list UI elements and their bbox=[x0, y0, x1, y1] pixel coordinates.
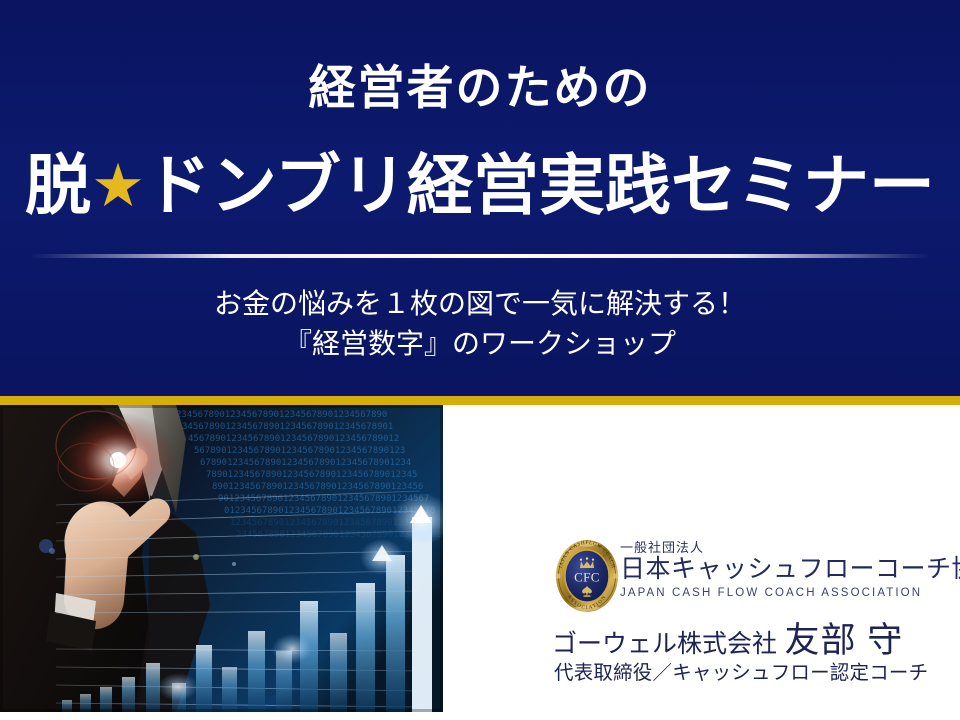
subtitle-line-2: 『経営数字』のワークショップ bbox=[0, 324, 960, 364]
header-banner: 経営者のための 脱★ドンブリ経営実践セミナー お金の悩みを１枚の図で一気に解決す… bbox=[0, 0, 960, 396]
gold-separator-band bbox=[0, 396, 960, 405]
association-kicker: 一般社団法人 bbox=[620, 541, 952, 555]
cfc-seal-icon: JAPAN CASHFLOW COACH ASSOCIATION CFC bbox=[552, 539, 622, 613]
presenter-name: 友部 守 bbox=[785, 621, 904, 660]
association-name-jp: 日本キャッシュフローコーチ協会 bbox=[620, 556, 952, 585]
svg-text:678901234567890123456789012345: 678901234567890123456789012345678901234 bbox=[200, 458, 411, 468]
page-title: 脱★ドンブリ経営実践セミナー bbox=[0, 148, 960, 224]
association-name-en: JAPAN CASH FLOW COACH ASSOCIATION bbox=[620, 587, 952, 600]
svg-text:901234567890123456789012345678: 901234567890123456789012345678901234567 bbox=[218, 494, 429, 504]
presenter-name-line: ゴーウェル株式会社 友部 守 bbox=[552, 620, 952, 662]
svg-text:CFC: CFC bbox=[574, 570, 600, 585]
presenter-company: ゴーウェル株式会社 bbox=[552, 630, 777, 658]
header-divider bbox=[30, 254, 930, 258]
title-part-after-star: ドンブリ経営実践セミナー bbox=[145, 148, 935, 222]
svg-text:890123456789012345678901234567: 890123456789012345678901234567890123456 bbox=[212, 482, 423, 492]
svg-text:789012345678901234567890123456: 789012345678901234567890123456789012345 bbox=[206, 470, 417, 480]
title-part-before-star: 脱 bbox=[25, 148, 91, 222]
association-text: 一般社団法人 日本キャッシュフローコーチ協会 JAPAN CASH FLOW C… bbox=[620, 541, 952, 600]
svg-text:567890123456789012345678901234: 567890123456789012345678901234567890123 bbox=[194, 446, 405, 456]
association-logo: JAPAN CASHFLOW COACH ASSOCIATION CFC bbox=[548, 536, 952, 614]
businessman-touching-growth-chart-photo: 234567890123456789012345678901234567890 … bbox=[0, 405, 443, 712]
presenter-role: 代表取締役／キャッシュフロー認定コーチ bbox=[554, 662, 952, 685]
svg-text:456789012345678901234567890123: 456789012345678901234567890123456789012 bbox=[188, 434, 399, 444]
presenter-credit-block: JAPAN CASHFLOW COACH ASSOCIATION CFC bbox=[548, 536, 952, 712]
photo-artwork: 234567890123456789012345678901234567890 … bbox=[0, 405, 443, 712]
subtitle: お金の悩みを１枚の図で一気に解決する！ 『経営数字』のワークショップ bbox=[0, 284, 960, 364]
star-icon: ★ bbox=[91, 152, 145, 219]
svg-text:234567890123456789012345678901: 234567890123456789012345678901234567890 bbox=[176, 410, 387, 420]
seminar-flyer-slide: 経営者のための 脱★ドンブリ経営実践セミナー お金の悩みを１枚の図で一気に解決す… bbox=[0, 0, 960, 720]
svg-text:345678901234567890123456789012: 345678901234567890123456789012345678901 bbox=[182, 422, 393, 432]
subtitle-line-1: お金の悩みを１枚の図で一気に解決する！ bbox=[214, 288, 746, 319]
eyebrow-text: 経営者のための bbox=[0, 62, 960, 114]
cfc-seal-artwork: JAPAN CASHFLOW COACH ASSOCIATION CFC bbox=[552, 539, 622, 613]
